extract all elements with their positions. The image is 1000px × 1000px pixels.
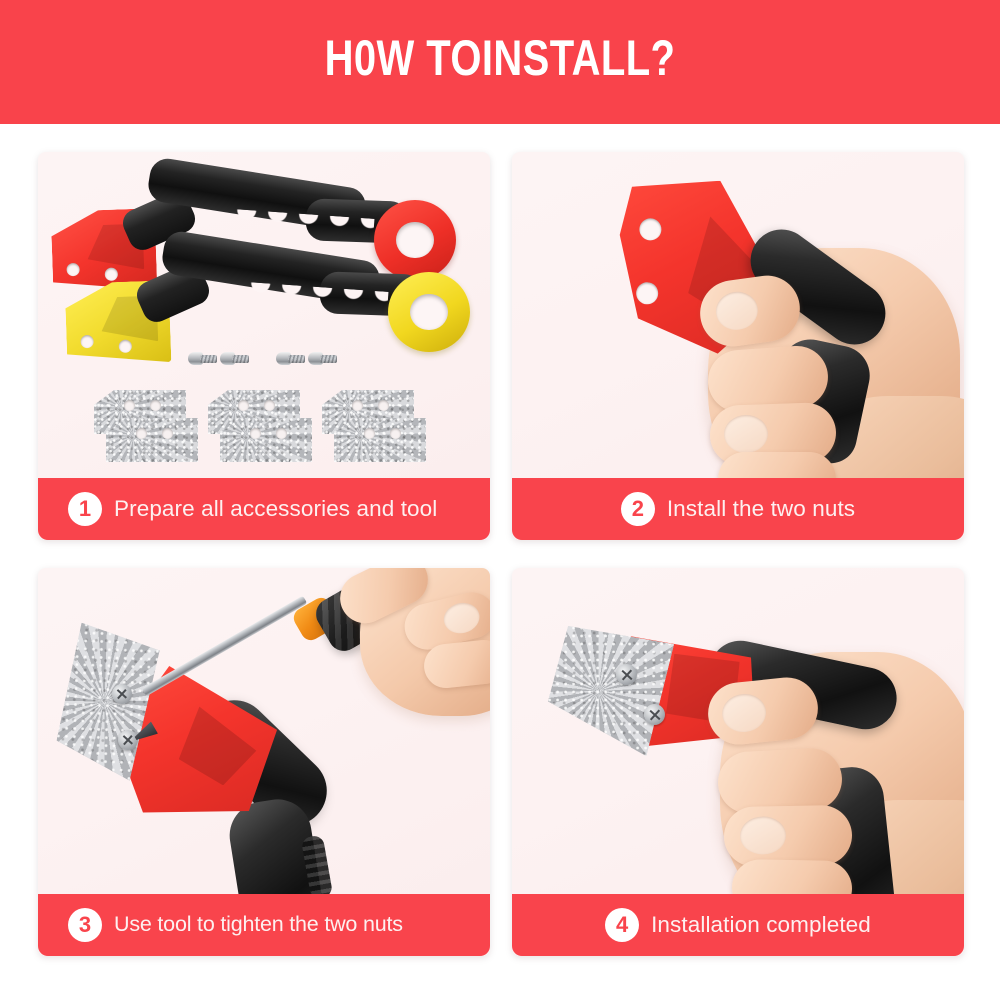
step-4-caption-text: Installation completed — [651, 914, 871, 937]
blade-screw-bottom-step4 — [644, 704, 665, 725]
step-panel-3: 3 Use tool to tighten the two nuts — [38, 568, 490, 956]
finger-ring-step4 — [723, 805, 852, 867]
step-panel-2: 2 Install the two nuts — [512, 152, 964, 540]
step-2-caption-bar: 2 Install the two nuts — [512, 478, 964, 540]
finger-pinky-step4 — [732, 859, 853, 894]
step-1-badge: 1 — [68, 492, 102, 526]
yellow-ring-end — [388, 272, 470, 352]
blade-pair-2 — [208, 390, 312, 468]
finger-pinky — [718, 452, 836, 478]
step-2-photo — [512, 152, 964, 478]
step-3-caption-text: Use tool to tighten the two nuts — [114, 914, 403, 936]
blade-screw-top — [112, 684, 132, 704]
step-2-badge: 2 — [621, 492, 655, 526]
steps-grid: 1 Prepare all accessories and tool — [38, 152, 964, 964]
step-1-photo — [38, 152, 490, 478]
step-4-caption-bar: 4 Installation completed — [512, 894, 964, 956]
blade-screw-top-step4 — [616, 664, 637, 685]
step-panel-1: 1 Prepare all accessories and tool — [38, 152, 490, 540]
step-2-caption-text: Install the two nuts — [667, 498, 855, 521]
blade-pair-3 — [322, 390, 426, 468]
step-panel-4: 4 Installation completed — [512, 568, 964, 956]
step-1-caption-text: Prepare all accessories and tool — [114, 498, 437, 521]
step-3-badge: 3 — [68, 908, 102, 942]
page-title: H0W TOINSTALL? — [100, 30, 900, 86]
step-3-photo — [38, 568, 490, 894]
page-header: H0W TOINSTALL? — [0, 0, 1000, 124]
blade-screw-bottom — [118, 730, 138, 750]
blade-pair-1 — [94, 390, 198, 468]
step-3-caption-bar: 3 Use tool to tighten the two nuts — [38, 894, 490, 956]
red-ring-end — [374, 200, 456, 280]
step-4-photo — [512, 568, 964, 894]
infographic-page: H0W TOINSTALL? — [0, 0, 1000, 1000]
step-1-caption-bar: 1 Prepare all accessories and tool — [38, 478, 490, 540]
step-4-badge: 4 — [605, 908, 639, 942]
